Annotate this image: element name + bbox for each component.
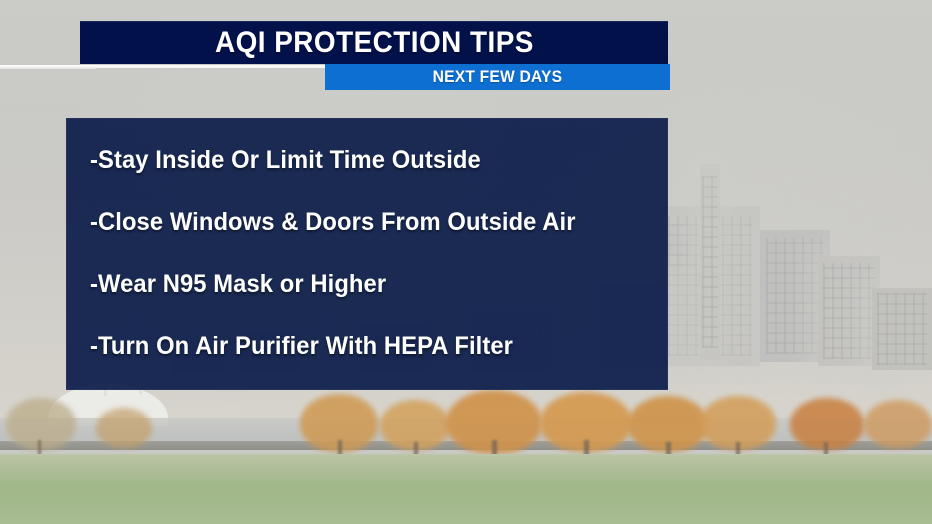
tip-item: -Stay Inside Or Limit Time Outside (90, 146, 639, 175)
broadcast-graphic: AQI PROTECTION TIPS NEXT FEW DAYS -Stay … (0, 0, 932, 524)
tip-item: -Wear N95 Mask or Higher (90, 270, 639, 299)
title-bar: AQI PROTECTION TIPS (80, 21, 668, 64)
autumn-tree (96, 408, 152, 448)
tips-panel: -Stay Inside Or Limit Time Outside -Clos… (66, 118, 668, 390)
park-lawn (0, 454, 932, 524)
subtitle-text: NEXT FEW DAYS (433, 67, 563, 87)
autumn-tree (6, 398, 76, 450)
subtitle-bar: NEXT FEW DAYS (325, 64, 670, 90)
page-title: AQI PROTECTION TIPS (215, 26, 534, 60)
tip-item: -Close Windows & Doors From Outside Air (90, 208, 639, 237)
tip-item: -Turn On Air Purifier With HEPA Filter (90, 332, 639, 361)
autumn-tree (864, 400, 932, 448)
accent-rule-highlight (0, 65, 96, 69)
